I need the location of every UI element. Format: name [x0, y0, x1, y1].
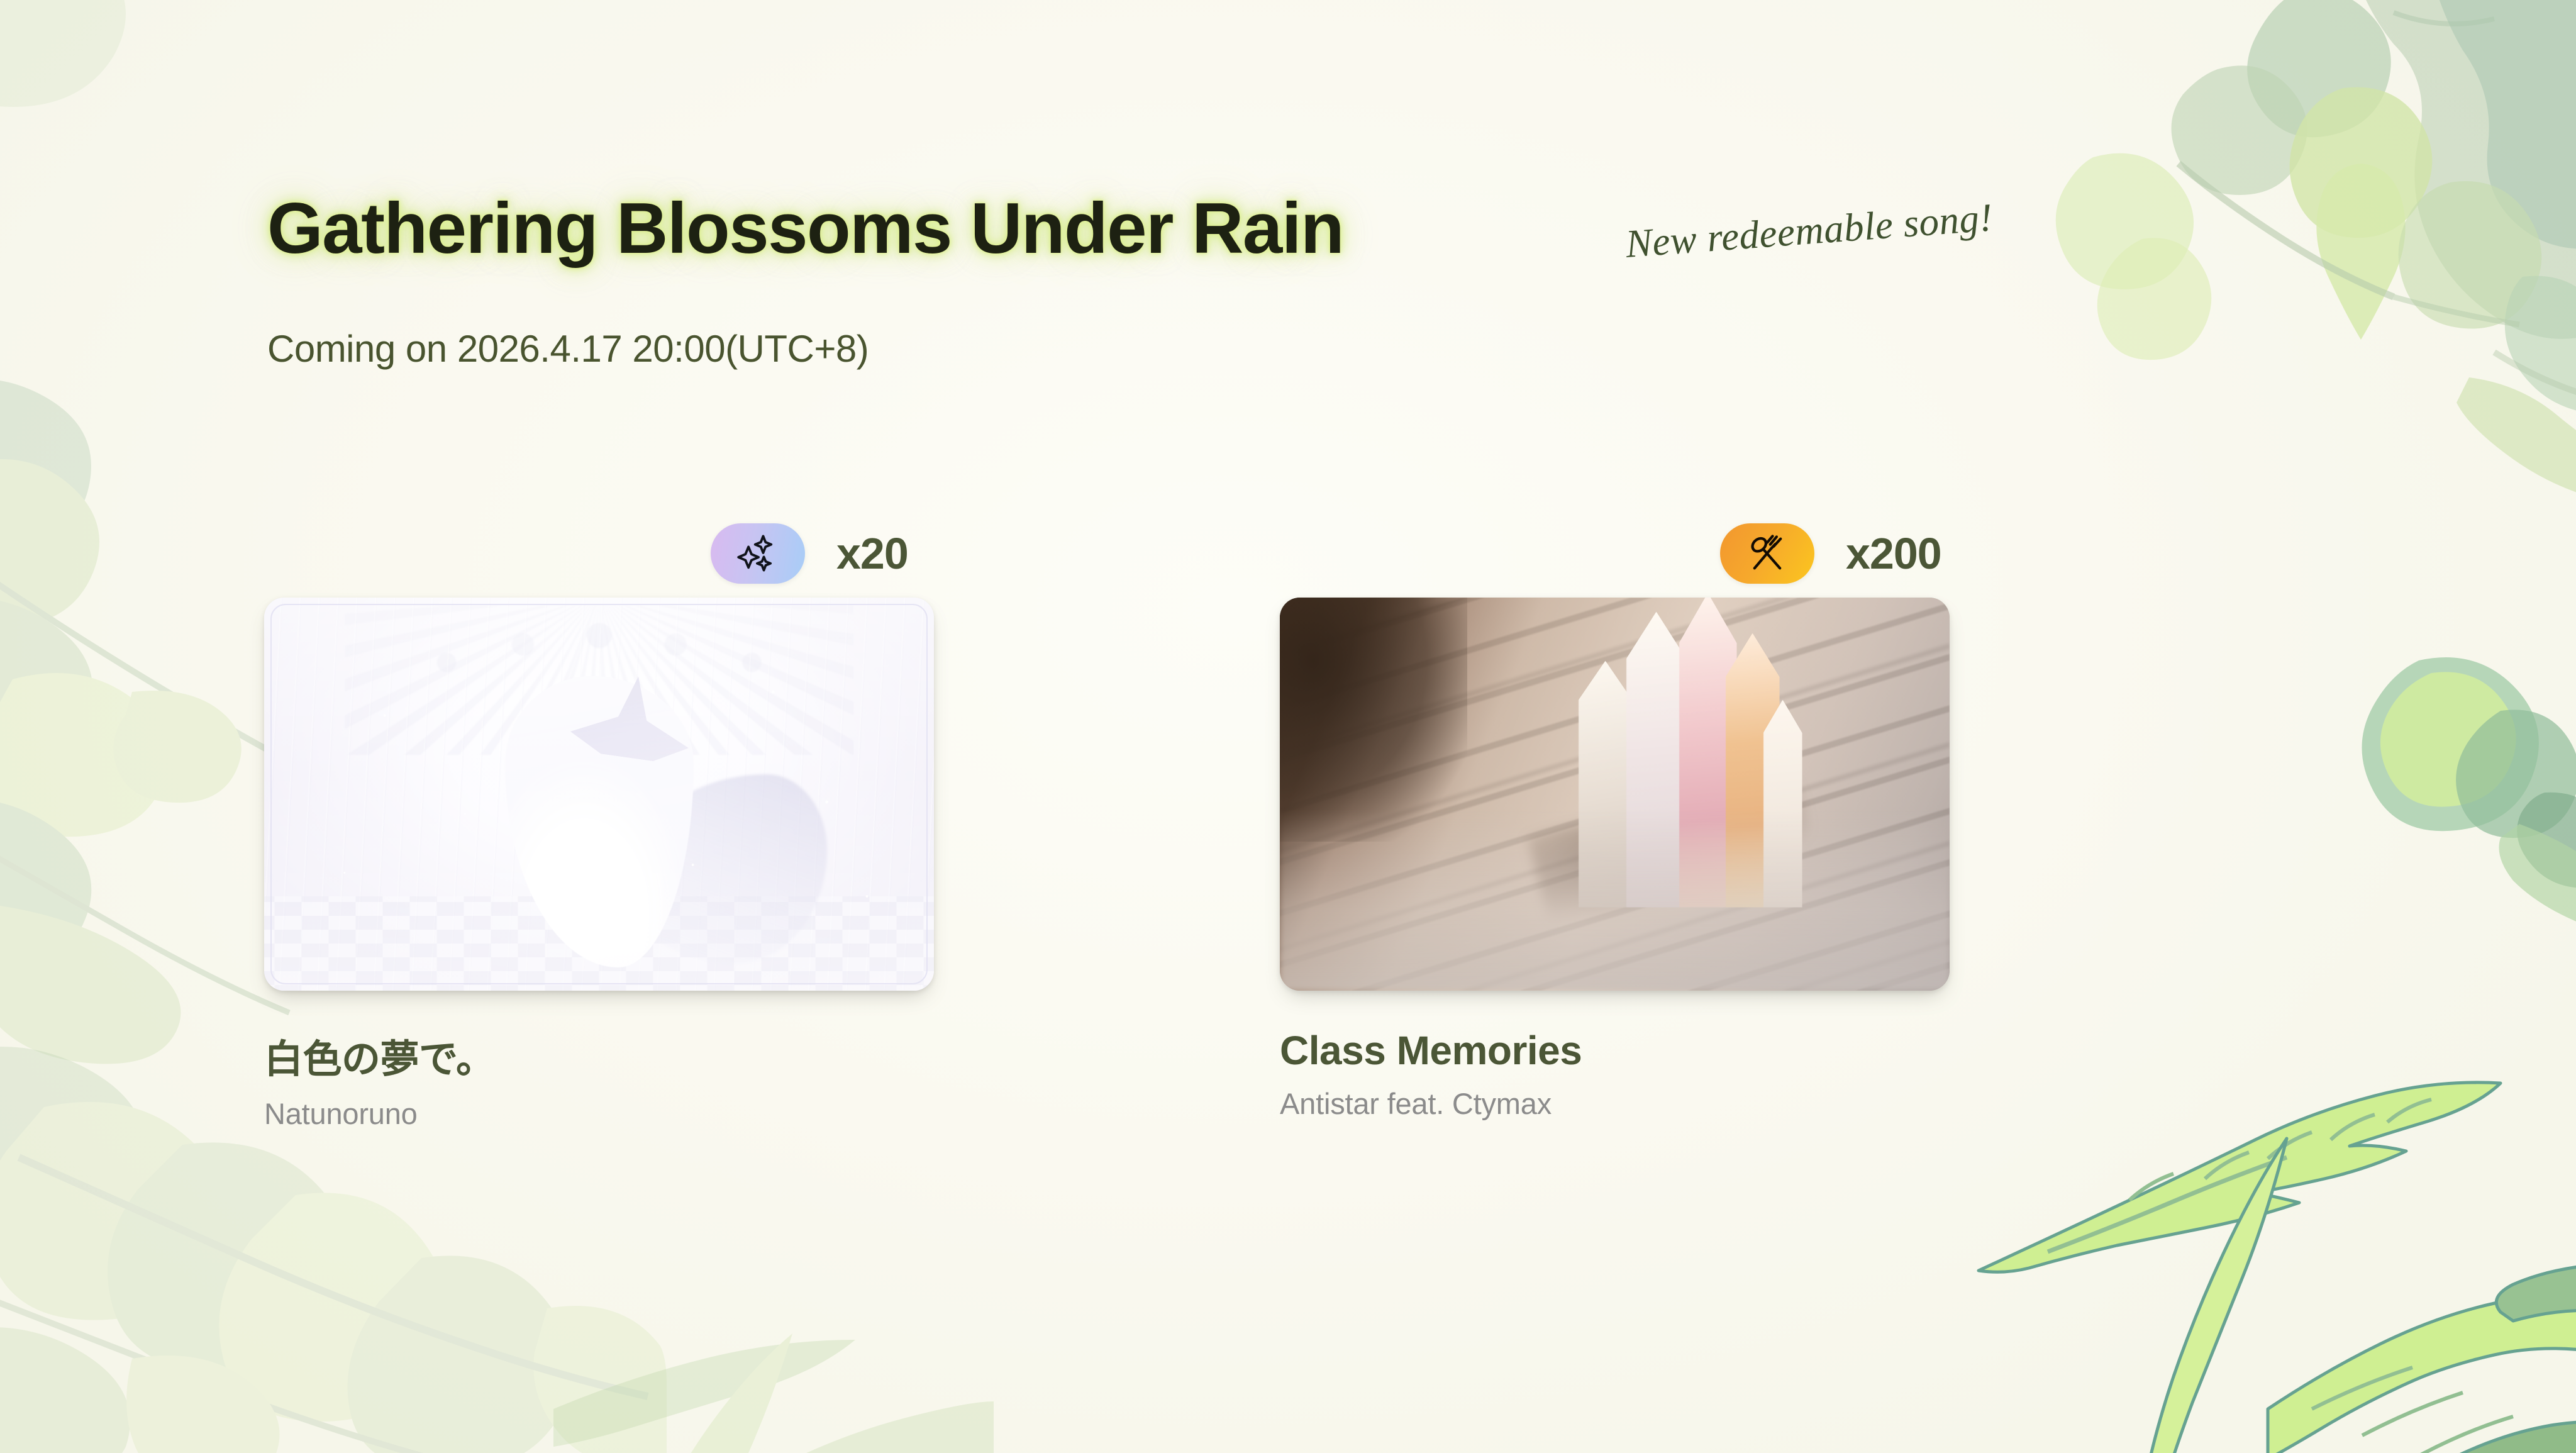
art-inner-frame [270, 604, 928, 984]
foliage-bottom-center [516, 1258, 994, 1453]
song-entry: x200 Class Memories Antis [1280, 516, 1950, 1121]
foliage-top-left [0, 0, 138, 132]
song-artist: Antistar feat. Ctymax [1280, 1086, 1950, 1121]
song-cost-row: x20 [711, 516, 934, 591]
foliage-left [0, 352, 302, 1076]
album-art-ethereal [264, 598, 934, 991]
song-title: Class Memories [1280, 1027, 1950, 1074]
cutlery-cost-amount: x200 [1846, 528, 1941, 579]
song-cost-row: x200 [1720, 516, 1950, 591]
foliage-right [2249, 635, 2576, 1025]
foliage-bottom-right [1972, 1057, 2576, 1453]
sparkles-cost-pill[interactable] [711, 523, 805, 584]
release-date-subtitle: Coming on 2026.4.17 20:00(UTC+8) [267, 327, 869, 370]
sparkles-icon [736, 532, 779, 575]
song-artist: Natunoruno [264, 1096, 934, 1131]
cutlery-icon [1746, 532, 1789, 575]
album-art-card[interactable] [264, 598, 934, 991]
album-art-photo [1280, 598, 1950, 991]
warm-tone-overlay [1280, 598, 1950, 991]
song-entry: x20 白色の夢で。 Natunoruno [264, 516, 934, 1131]
album-art-card[interactable] [1280, 598, 1950, 991]
foliage-top-right [1953, 0, 2576, 554]
cutlery-cost-pill[interactable] [1720, 523, 1814, 584]
song-title: 白色の夢で。 [264, 1027, 934, 1084]
page-title: Gathering Blossoms Under Rain [267, 189, 1343, 269]
sparkles-cost-amount: x20 [836, 528, 908, 579]
promo-banner: Gathering Blossoms Under Rain New redeem… [0, 0, 2576, 1453]
